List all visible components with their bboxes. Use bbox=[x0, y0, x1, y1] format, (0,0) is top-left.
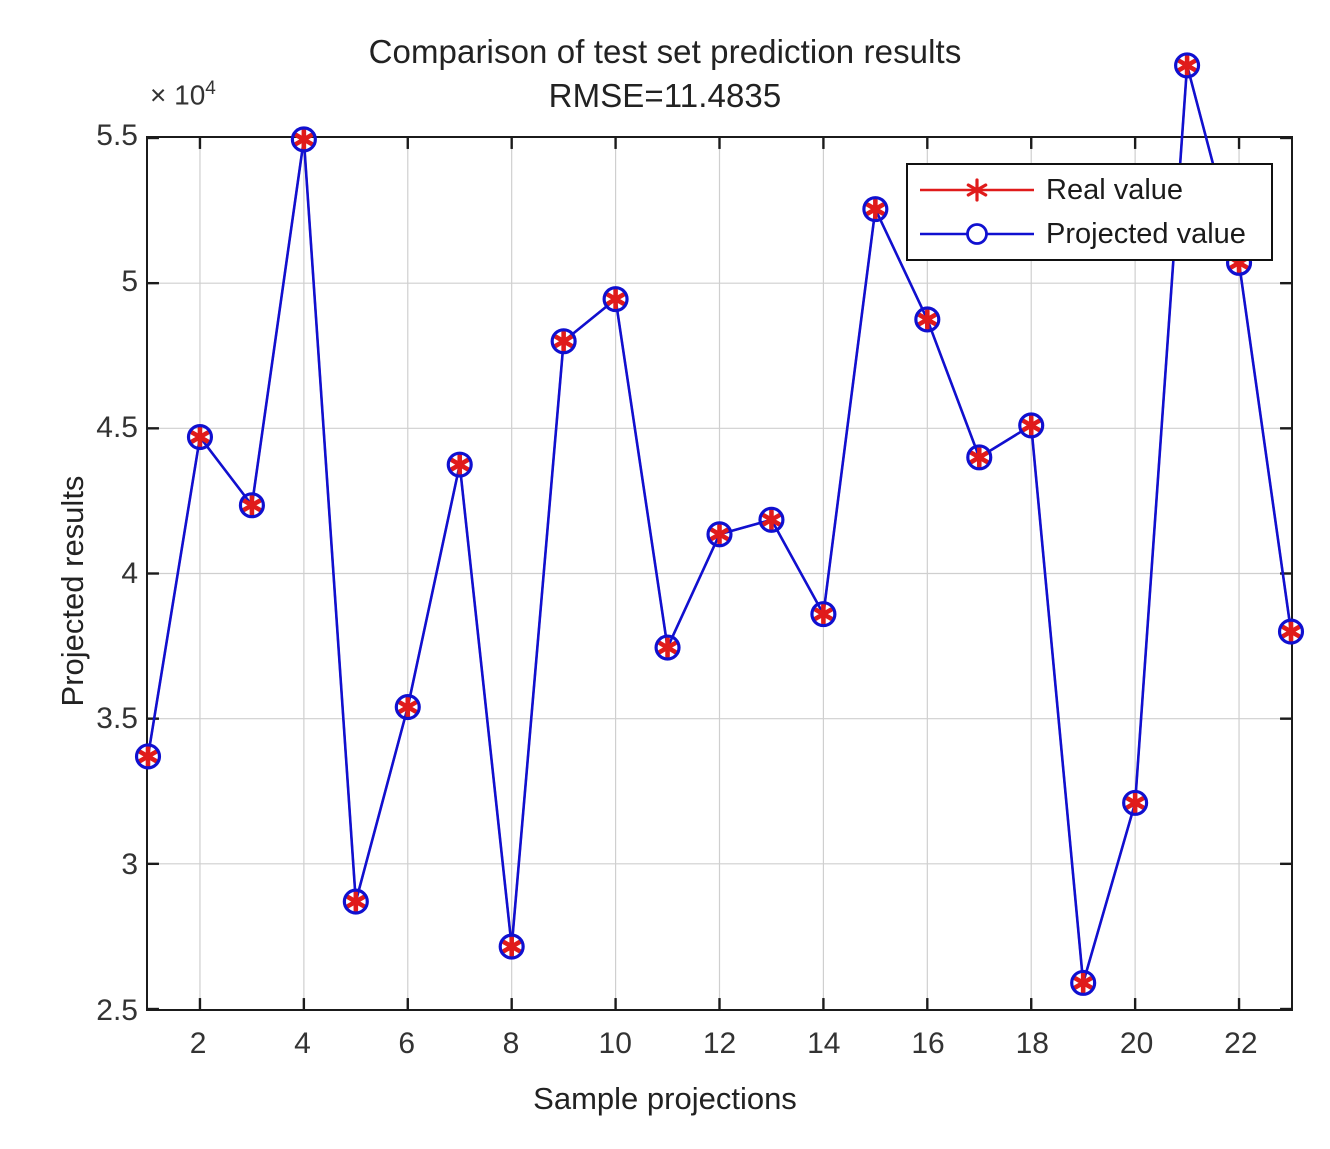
y-axis-exponent-power: 4 bbox=[205, 78, 216, 99]
x-axis-tick-label: 16 bbox=[888, 1027, 968, 1061]
x-axis-tick-label: 18 bbox=[992, 1027, 1072, 1061]
x-axis-tick-label: 10 bbox=[575, 1027, 655, 1061]
x-axis-tick-label: 2 bbox=[158, 1027, 238, 1061]
legend-item-real-value[interactable]: Real value bbox=[918, 171, 1261, 209]
chart-legend[interactable]: Real value Projected value bbox=[906, 163, 1273, 261]
marker-asterisk bbox=[504, 938, 520, 956]
marker-asterisk bbox=[712, 525, 728, 543]
marker-asterisk bbox=[1023, 416, 1039, 434]
y-axis-exponent-base: × 10 bbox=[150, 79, 205, 110]
x-axis-tick-label: 8 bbox=[471, 1027, 551, 1061]
plot-area bbox=[146, 136, 1293, 1011]
y-axis-tick-label: 5 bbox=[48, 265, 138, 299]
legend-item-projected-value[interactable]: Projected value bbox=[918, 215, 1261, 253]
y-axis-tick-label: 3.5 bbox=[48, 702, 138, 736]
marker-asterisk bbox=[1283, 623, 1299, 641]
marker-asterisk bbox=[348, 893, 364, 911]
y-axis-tick-label: 3 bbox=[48, 848, 138, 882]
legend-label-projected-value: Projected value bbox=[1046, 218, 1246, 251]
y-axis-exponent: × 104 bbox=[150, 78, 216, 111]
marker-asterisk bbox=[296, 130, 312, 148]
x-axis-tick-label: 12 bbox=[680, 1027, 760, 1061]
marker-asterisk bbox=[140, 747, 156, 765]
y-axis-tick-label: 4.5 bbox=[48, 411, 138, 445]
circle-icon bbox=[918, 219, 1036, 249]
marker-asterisk bbox=[608, 290, 624, 308]
marker-asterisk bbox=[400, 698, 416, 716]
x-axis-tick-label: 20 bbox=[1097, 1027, 1177, 1061]
y-axis-tick-labels: 2.533.544.555.5 bbox=[20, 0, 138, 1149]
x-axis-tick-label: 22 bbox=[1201, 1027, 1281, 1061]
marker-asterisk bbox=[764, 511, 780, 529]
y-axis-tick-label: 4 bbox=[48, 557, 138, 591]
marker-asterisk bbox=[660, 639, 676, 657]
marker-asterisk bbox=[1179, 56, 1195, 74]
legend-label-real-value: Real value bbox=[1046, 174, 1183, 207]
x-axis-label: Sample projections bbox=[0, 1081, 1330, 1117]
y-axis-tick-label: 2.5 bbox=[48, 994, 138, 1028]
x-axis-tick-label: 14 bbox=[784, 1027, 864, 1061]
chart-title: Comparison of test set prediction result… bbox=[0, 30, 1330, 74]
marker-asterisk bbox=[452, 456, 468, 474]
marker-asterisk bbox=[972, 448, 988, 466]
marker-asterisk bbox=[1075, 974, 1091, 992]
x-axis-tick-label: 4 bbox=[262, 1027, 342, 1061]
marker-asterisk bbox=[920, 310, 936, 328]
y-axis-tick-label: 5.5 bbox=[48, 119, 138, 153]
x-axis-tick-label: 6 bbox=[367, 1027, 447, 1061]
asterisk-icon bbox=[918, 175, 1036, 205]
marker-asterisk bbox=[1127, 794, 1143, 812]
marker-asterisk bbox=[868, 200, 884, 218]
chart-figure: Comparison of test set prediction result… bbox=[0, 0, 1330, 1149]
data-series-layer bbox=[148, 138, 1291, 1009]
marker-asterisk bbox=[556, 332, 572, 350]
marker-asterisk bbox=[816, 605, 832, 623]
